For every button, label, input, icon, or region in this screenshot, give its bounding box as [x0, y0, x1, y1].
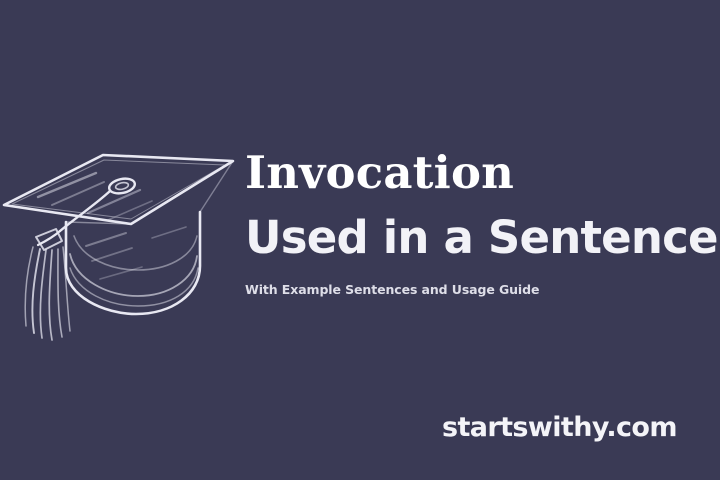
word-definition-banner: Invocation Used in a Sentence With Examp… [0, 0, 720, 480]
graduation-cap-icon [0, 128, 245, 353]
banner-text-block: Invocation Used in a Sentence With Examp… [245, 148, 715, 298]
site-domain: startswithy.com [442, 411, 677, 445]
headline: Used in a Sentence [245, 212, 715, 264]
page-title: Invocation [245, 148, 715, 198]
subtitle: With Example Sentences and Usage Guide [245, 282, 715, 298]
